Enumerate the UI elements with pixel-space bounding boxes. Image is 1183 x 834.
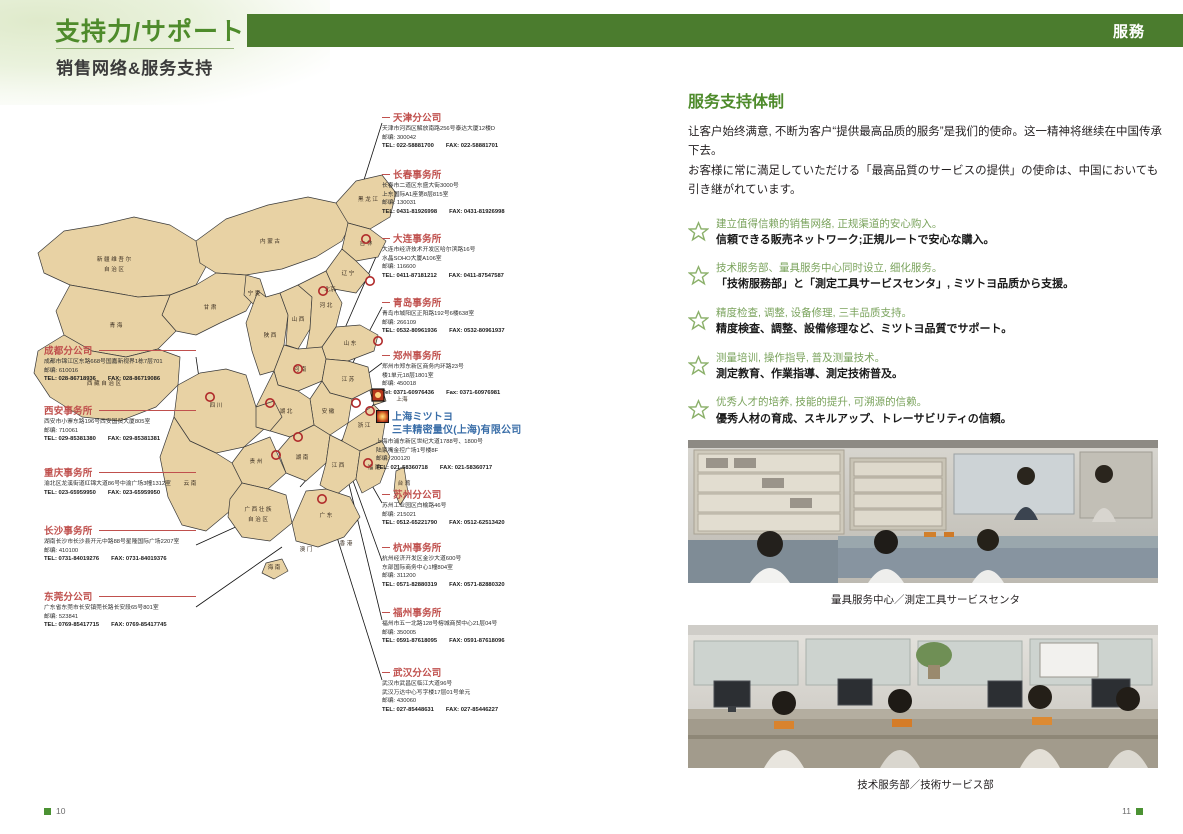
office-address-line: 苏州工业园区白榆路46号 [382, 502, 554, 511]
photo-caption: 量具服务中心／測定工具サービスセンタ [688, 592, 1163, 607]
office-postcode: 邮编: 300042 [382, 134, 554, 143]
office-postcode: 邮编: 215021 [382, 511, 554, 520]
svg-text:河 北: 河 北 [320, 301, 333, 309]
office-contact: TEL: 0411-87181212FAX: 0411-87547587 [382, 272, 554, 281]
office-address-line: 广东省东莞市长安镇莞长路长安段65号801室 [44, 604, 196, 613]
intro-paragraph-jp: お客様に常に満足していただける「最高品質のサービスの提供」の使命は、中国において… [688, 162, 1163, 199]
office-address-line: 长春市二道区东盛大街3000号 [382, 182, 554, 191]
office-name: 东莞分公司 [44, 589, 196, 603]
svg-text:甘 肃: 甘 肃 [204, 303, 217, 311]
office-postcode: 邮编: 116600 [382, 263, 554, 272]
office-contact: TEL: 0591-87618095FAX: 0591-87618096 [382, 637, 554, 646]
office-card-wuhan: 武汉分公司 武汉市武昌区临江大道96号 武汉万达中心写字楼17层01号单元 邮编… [382, 665, 554, 715]
office-name: 天津分公司 [382, 110, 554, 124]
office-name: 成都分公司 [44, 343, 196, 357]
star-icon [688, 355, 709, 381]
svg-text:山 西: 山 西 [292, 315, 305, 323]
page-number-left-value: 10 [56, 806, 65, 816]
office-postcode: 邮编: 410100 [44, 547, 196, 556]
office-card-qingdao: 青岛事务所 青岛市城阳区正阳路192号6楼638室 邮编: 266109 TEL… [382, 295, 554, 336]
office-contact: TEL: 022-58881700FAX: 022-58881701 [382, 142, 554, 151]
svg-text:澳 门: 澳 门 [300, 545, 313, 553]
technical-service-dept-photo [688, 625, 1158, 768]
hq-name-cn: 三丰精密量仪(上海)有限公司 [392, 425, 576, 438]
office-card-changsha: 长沙事务所 湖南长沙市长沙县开元中路88号星隆国际广场2207室 邮编: 410… [44, 523, 196, 564]
service-support-pane: 服务支持体制 让客户始终满意, 不断为客户“提供最高品质的服务”是我们的使命。这… [688, 88, 1163, 792]
office-card-hangzhou: 杭州事务所 杭州经济开发区金沙大道600号 东部国际商务中心1幢804室 邮编:… [382, 540, 554, 590]
support-bullet-text: 优秀人才的培养, 技能的提升, 可溯源的信赖。 優秀人材の育成、スキルアップ、ト… [716, 395, 1012, 427]
support-bullet-text: 建立值得信赖的销售网络, 正规渠道的安心购入。 信頼できる販売ネットワーク;正規… [716, 217, 994, 249]
office-postcode: 邮编: 523841 [44, 613, 196, 622]
bullet-cn: 建立值得信赖的销售网络, 正规渠道的安心购入。 [716, 217, 994, 232]
svg-text:浙 江: 浙 江 [358, 421, 371, 429]
office-address-line: 水晶SOHO大厦A106室 [382, 255, 554, 264]
page-marker-square [1136, 808, 1143, 815]
office-contact: TEL: 0512-65221790FAX: 0512-62513420 [382, 519, 554, 528]
office-address-line: 武汉万达中心写字楼17层01号单元 [382, 689, 554, 698]
office-name: 重庆事务所 [44, 465, 196, 479]
sales-network-map-pane: 新 疆 维 吾 尔 自 治 区 内 蒙 古 黑 龙 江 吉 林 辽 宁 甘 肃 … [0, 95, 660, 795]
office-contact: TEL: 028-86718936FAX: 028-86719086 [44, 375, 196, 384]
office-card-zhengzhou: 郑州事务所 郑州市郑东新区商务内环路23号 楼1单元18层1801室 邮编: 4… [382, 348, 554, 398]
svg-text:新 疆 维 吾 尔: 新 疆 维 吾 尔 [97, 255, 132, 263]
page-number-left: 10 [44, 806, 65, 816]
office-postcode: 邮编: 311200 [382, 572, 554, 581]
svg-text:陕 西: 陕 西 [264, 331, 277, 339]
svg-text:辽 宁: 辽 宁 [342, 269, 355, 277]
support-bullet: 测量培训, 操作指导, 普及测量技术。 測定教育、作業指導、測定技術普及。 [688, 351, 1163, 383]
office-contact: TEL: 029-85381380FAX: 029-85381381 [44, 435, 196, 444]
title-divider [56, 48, 234, 49]
support-bullet-text: 测量培训, 操作指导, 普及测量技术。 測定教育、作業指導、測定技術普及。 [716, 351, 903, 383]
bullet-cn: 技术服务部、量具服务中心同时设立, 细化服务。 [716, 261, 1074, 276]
office-postcode: 邮编: 350005 [382, 629, 554, 638]
office-name: 武汉分公司 [382, 665, 554, 679]
header-band-label: 服務 [1113, 20, 1145, 41]
svg-text:贵 州: 贵 州 [250, 457, 263, 465]
gauge-service-center-photo [688, 440, 1158, 583]
page-number-right: 11 [1122, 806, 1143, 816]
svg-text:广 东: 广 东 [320, 511, 333, 519]
office-card-changchun: 长春事务所 长春市二道区东盛大街3000号 上东国际A1座第8层815室 邮编:… [382, 167, 554, 217]
svg-text:自 治 区: 自 治 区 [248, 515, 268, 523]
office-address-line: 郑州市郑东新区商务内环路23号 [382, 363, 554, 372]
office-name: 郑州事务所 [382, 348, 554, 362]
support-bullet: 优秀人才的培养, 技能的提升, 可溯源的信赖。 優秀人材の育成、スキルアップ、ト… [688, 395, 1163, 427]
office-address-line: 杭州经济开发区金沙大道600号 [382, 555, 554, 564]
office-address-line: 青岛市城阳区正阳路192号6楼638室 [382, 310, 554, 319]
svg-text:香 港: 香 港 [340, 539, 353, 547]
office-postcode: 邮编: 710061 [44, 427, 196, 436]
office-postcode: 邮编: 430060 [382, 697, 554, 706]
svg-text:海 南: 海 南 [268, 563, 281, 571]
bullet-cn: 精度检查, 调整, 设备修理, 三丰品质支持。 [716, 306, 1012, 321]
office-card-xian: 西安事务所 西安市小寨东路196号西安国贸大厦805室 邮编: 710061 T… [44, 403, 196, 444]
office-card-tianjin: 天津分公司 天津市河西区解放南路256号泰达大厦12楼D 邮编: 300042 … [382, 110, 554, 151]
office-address-line: 天津市河西区解放南路256号泰达大厦12楼D [382, 125, 554, 134]
svg-text:安 徽: 安 徽 [322, 407, 335, 415]
office-card-dongguan: 东莞分公司 广东省东莞市长安镇莞长路长安段65号801室 邮编: 523841 … [44, 589, 196, 630]
office-address-line: 武汉市武昌区临江大道96号 [382, 680, 554, 689]
office-contact: TEL: 023-65959950FAX: 023-65959950 [44, 489, 196, 498]
office-name: 青岛事务所 [382, 295, 554, 309]
office-name: 西安事务所 [44, 403, 196, 417]
office-address-line: 湖南长沙市长沙县开元中路88号星隆国际广场2207室 [44, 538, 196, 547]
bullet-jp: 精度検査、調整、設備修理など、ミツトヨ品質でサポート。 [716, 321, 1012, 338]
office-contact: TEL: 0431-81926998FAX: 0431-81926998 [382, 208, 554, 217]
support-bullet-text: 技术服务部、量具服务中心同时设立, 细化服务。 「技術服務部」と「測定工具サービ… [716, 261, 1074, 293]
support-bullet-text: 精度检查, 调整, 设备修理, 三丰品质支持。 精度検査、調整、設備修理など、ミ… [716, 306, 1012, 338]
office-contact: TEL: 0532-80961936FAX: 0532-80961937 [382, 327, 554, 336]
office-address-line: 福州市五一北路128号榕城商贸中心21层04号 [382, 620, 554, 629]
office-card-suzhou: 苏州分公司 苏州工业园区白榆路46号 邮编: 215021 TEL: 0512-… [382, 487, 554, 528]
svg-text:宁 夏: 宁 夏 [248, 289, 261, 297]
office-postcode: 邮编: 200120 [376, 455, 576, 464]
support-bullet: 建立值得信赖的销售网络, 正规渠道的安心购入。 信頼できる販売ネットワーク;正規… [688, 217, 1163, 249]
svg-text:台 湾: 台 湾 [398, 479, 411, 487]
bullet-jp: 優秀人材の育成、スキルアップ、トレーサビリティの信頼。 [716, 411, 1012, 428]
office-address-line: 陆家嘴金控广场1号楼8F [376, 447, 576, 456]
page-subtitle: 销售网络&服务支持 [56, 54, 213, 79]
office-contact: Tel: 0371-60976436Fax: 0371-60976981 [382, 389, 554, 398]
svg-text:广 西 壮 族: 广 西 壮 族 [244, 505, 271, 513]
office-name: 长沙事务所 [44, 523, 196, 537]
support-bullet: 精度检查, 调整, 设备修理, 三丰品质支持。 精度検査、調整、設備修理など、ミ… [688, 306, 1163, 338]
office-name: 大连事务所 [382, 231, 554, 245]
office-address-line: 成都市锦江区东路668号国嘉新视界1栋7层701 [44, 358, 196, 367]
office-name: 杭州事务所 [382, 540, 554, 554]
svg-text:四 川: 四 川 [210, 402, 223, 409]
hq-name-jp: 上海ミツトヨ [392, 412, 453, 423]
svg-text:内 蒙 古: 内 蒙 古 [260, 237, 280, 245]
office-address-line: 上海市浦东新区世纪大道1788号、1800号 [376, 438, 576, 447]
support-bullet: 技术服务部、量具服务中心同时设立, 细化服务。 「技術服務部」と「測定工具サービ… [688, 261, 1163, 293]
svg-text:湖 南: 湖 南 [296, 453, 309, 461]
bullet-cn: 优秀人才的培养, 技能的提升, 可溯源的信赖。 [716, 395, 1012, 410]
office-contact: TEL: 027-85448631FAX: 027-85446227 [382, 706, 554, 715]
office-contact: TEL: 0571-82880319FAX: 0571-82880320 [382, 581, 554, 590]
office-card-fuzhou: 福州事务所 福州市五一北路128号榕城商贸中心21层04号 邮编: 350005… [382, 605, 554, 646]
office-address-line: 楼1单元18层1801室 [382, 372, 554, 381]
office-card-chengdu: 成都分公司 成都市锦江区东路668号国嘉新视界1栋7层701 邮编: 61001… [44, 343, 196, 384]
office-postcode: 邮编: 130031 [382, 199, 554, 208]
section-title: 服务支持体制 [688, 88, 1163, 112]
office-card-chongqing: 重庆事务所 渝北区龙溪街道红锦大道86号中渝广场3幢1312室 TEL: 023… [44, 465, 196, 498]
office-card-headquarters-shanghai: 上海ミツトヨ 三丰精密量仪(上海)有限公司 上海市浦东新区世纪大道1788号、1… [376, 410, 576, 473]
office-address-line: 渝北区龙溪街道红锦大道86号中渝广场3幢1312室 [44, 480, 196, 489]
star-icon [688, 221, 709, 247]
office-name: 长春事务所 [382, 167, 554, 181]
office-contact: TEL: 0731-84019276FAX: 0731-84019376 [44, 555, 196, 564]
svg-text:江 西: 江 西 [332, 462, 345, 469]
bullet-cn: 测量培训, 操作指导, 普及测量技术。 [716, 351, 903, 366]
star-icon [688, 265, 709, 291]
office-contact: TEL: 0769-85417715FAX: 0769-85417745 [44, 621, 196, 630]
svg-text:江 苏: 江 苏 [342, 375, 355, 383]
bullet-jp: 信頼できる販売ネットワーク;正規ルートで安心な購入。 [716, 232, 994, 249]
office-postcode: 邮编: 450018 [382, 380, 554, 389]
star-icon [688, 399, 709, 425]
svg-text:青 海: 青 海 [110, 321, 123, 329]
office-address-line: 东部国际商务中心1幢804室 [382, 564, 554, 573]
office-address-line: 上东国际A1座第8层815室 [382, 191, 554, 200]
svg-text:山 东: 山 东 [344, 339, 357, 347]
hq-marker-icon [376, 410, 389, 423]
bullet-jp: 「技術服務部」と「測定工具サービスセンタ」, ミツトヨ品质から支援。 [716, 276, 1074, 293]
page-title: 支持力/サポート [55, 12, 245, 48]
office-contact: TEL: 021-58360718FAX: 021-58360717 [376, 464, 576, 473]
page-number-right-value: 11 [1122, 806, 1131, 816]
office-name: 苏州分公司 [382, 487, 554, 501]
office-name: 福州事务所 [382, 605, 554, 619]
page-marker-square [44, 808, 51, 815]
bullet-jp: 測定教育、作業指導、測定技術普及。 [716, 366, 903, 383]
svg-text:自 治 区: 自 治 区 [104, 265, 124, 273]
office-address-line: 西安市小寨东路196号西安国贸大厦805室 [44, 418, 196, 427]
star-icon [688, 310, 709, 336]
support-bullet-list: 建立值得信赖的销售网络, 正规渠道的安心购入。 信頼できる販売ネットワーク;正規… [688, 217, 1163, 428]
svg-text:黑 龙 江: 黑 龙 江 [358, 195, 378, 203]
svg-text:湖 北: 湖 北 [280, 407, 293, 415]
intro-paragraph-cn: 让客户始终满意, 不断为客户“提供最高品质的服务”是我们的使命。这一精神将继续在… [688, 123, 1163, 160]
photo-caption: 技术服务部／技術サービス部 [688, 777, 1163, 792]
hq-name: 上海ミツトヨ 三丰精密量仪(上海)有限公司 [376, 410, 576, 437]
office-postcode: 邮编: 266109 [382, 319, 554, 328]
office-card-dalian: 大连事务所 大连市经济技术开发区哈尔滨路16号 水晶SOHO大厦A106室 邮编… [382, 231, 554, 281]
office-postcode: 邮编: 610016 [44, 367, 196, 376]
office-address-line: 大连市经济技术开发区哈尔滨路16号 [382, 246, 554, 255]
header-green-band: 服務 [247, 14, 1183, 47]
